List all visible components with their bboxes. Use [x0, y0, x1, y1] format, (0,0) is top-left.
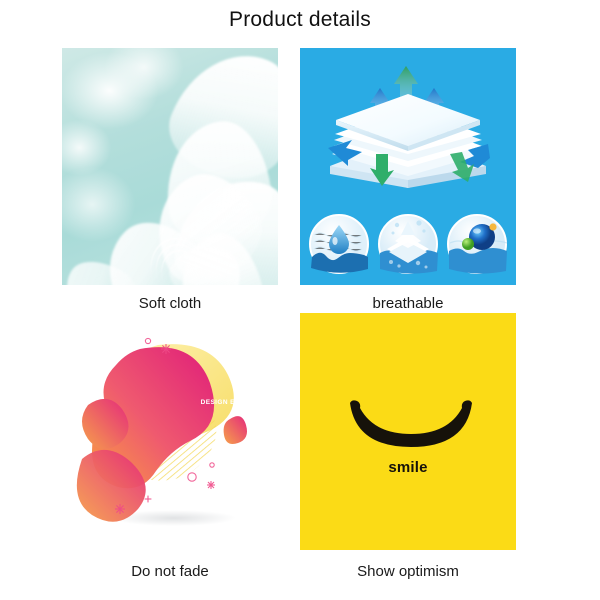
soft-cloth-image[interactable] — [62, 48, 278, 285]
page-title: Product details — [0, 8, 600, 32]
caption-do-not-fade: Do not fade — [62, 563, 278, 581]
smile-icon — [346, 399, 476, 453]
water-drop-icon — [308, 213, 370, 275]
detail-cell-show-optimism[interactable]: smile Show optimism — [300, 313, 516, 581]
product-details-page: Product details Soft cloth — [0, 0, 600, 600]
detail-cell-breathable[interactable]: breathable — [300, 48, 516, 313]
germ-icon — [446, 213, 508, 275]
breathable-image[interactable] — [300, 48, 516, 285]
feature-circle-row — [308, 209, 508, 275]
smile-label: smile — [300, 459, 516, 476]
detail-cell-do-not-fade[interactable]: STYLE DESIGN ELEMENT Do not fade — [62, 313, 278, 581]
fabric-layers-diagram — [318, 62, 498, 190]
gradient-blob-graphic — [62, 313, 278, 550]
breathable-layer-icon — [377, 213, 439, 275]
caption-breathable: breathable — [300, 295, 516, 313]
show-optimism-image[interactable]: smile — [300, 313, 516, 550]
detail-cell-soft-cloth[interactable]: Soft cloth — [62, 48, 278, 313]
do-not-fade-image[interactable]: STYLE DESIGN ELEMENT — [62, 313, 278, 550]
caption-show-optimism: Show optimism — [300, 563, 516, 581]
caption-soft-cloth: Soft cloth — [62, 295, 278, 313]
